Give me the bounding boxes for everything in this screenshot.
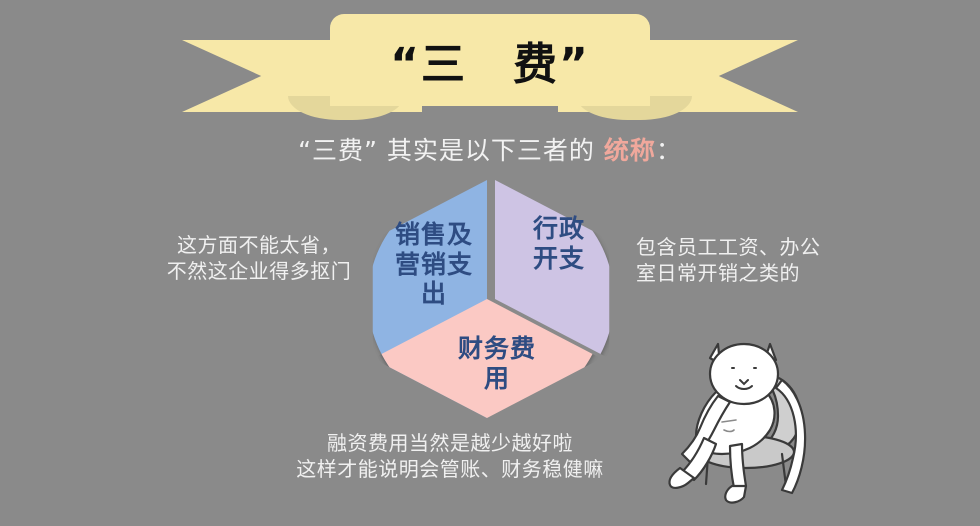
cat-lounging-icon xyxy=(660,330,820,510)
pie-label-finance: 财务费 用 xyxy=(436,334,558,393)
subtitle: “三费” 其实是以下三者的 统称： xyxy=(0,131,980,167)
annotation-right: 包含员工工资、办公 室日常开销之类的 xyxy=(636,234,842,287)
subtitle-accent: 统称 xyxy=(604,136,656,165)
pie-chart: 销售及 营销支 出 行政 开支 财务费 用 xyxy=(368,176,620,424)
subtitle-suffix: ： xyxy=(656,136,682,165)
page-title: “三 费” xyxy=(330,14,650,106)
annotation-bottom: 融资费用当然是越少越好啦 这样才能说明会管账、财务稳健嘛 xyxy=(248,430,652,483)
pie-label-admin: 行政 开支 xyxy=(504,214,614,273)
title-banner: “三 费” xyxy=(182,14,798,118)
subtitle-prefix: “三费” 其实是以下三者的 xyxy=(298,136,604,165)
annotation-left: 这方面不能太省， 不然这企业得多抠门 xyxy=(148,232,370,285)
slide-canvas: “三 费” “三费” 其实是以下三者的 统称： 销售及 营销支 出 行政 开支 … xyxy=(0,0,980,526)
pie-label-sales: 销售及 营销支 出 xyxy=(382,220,486,309)
